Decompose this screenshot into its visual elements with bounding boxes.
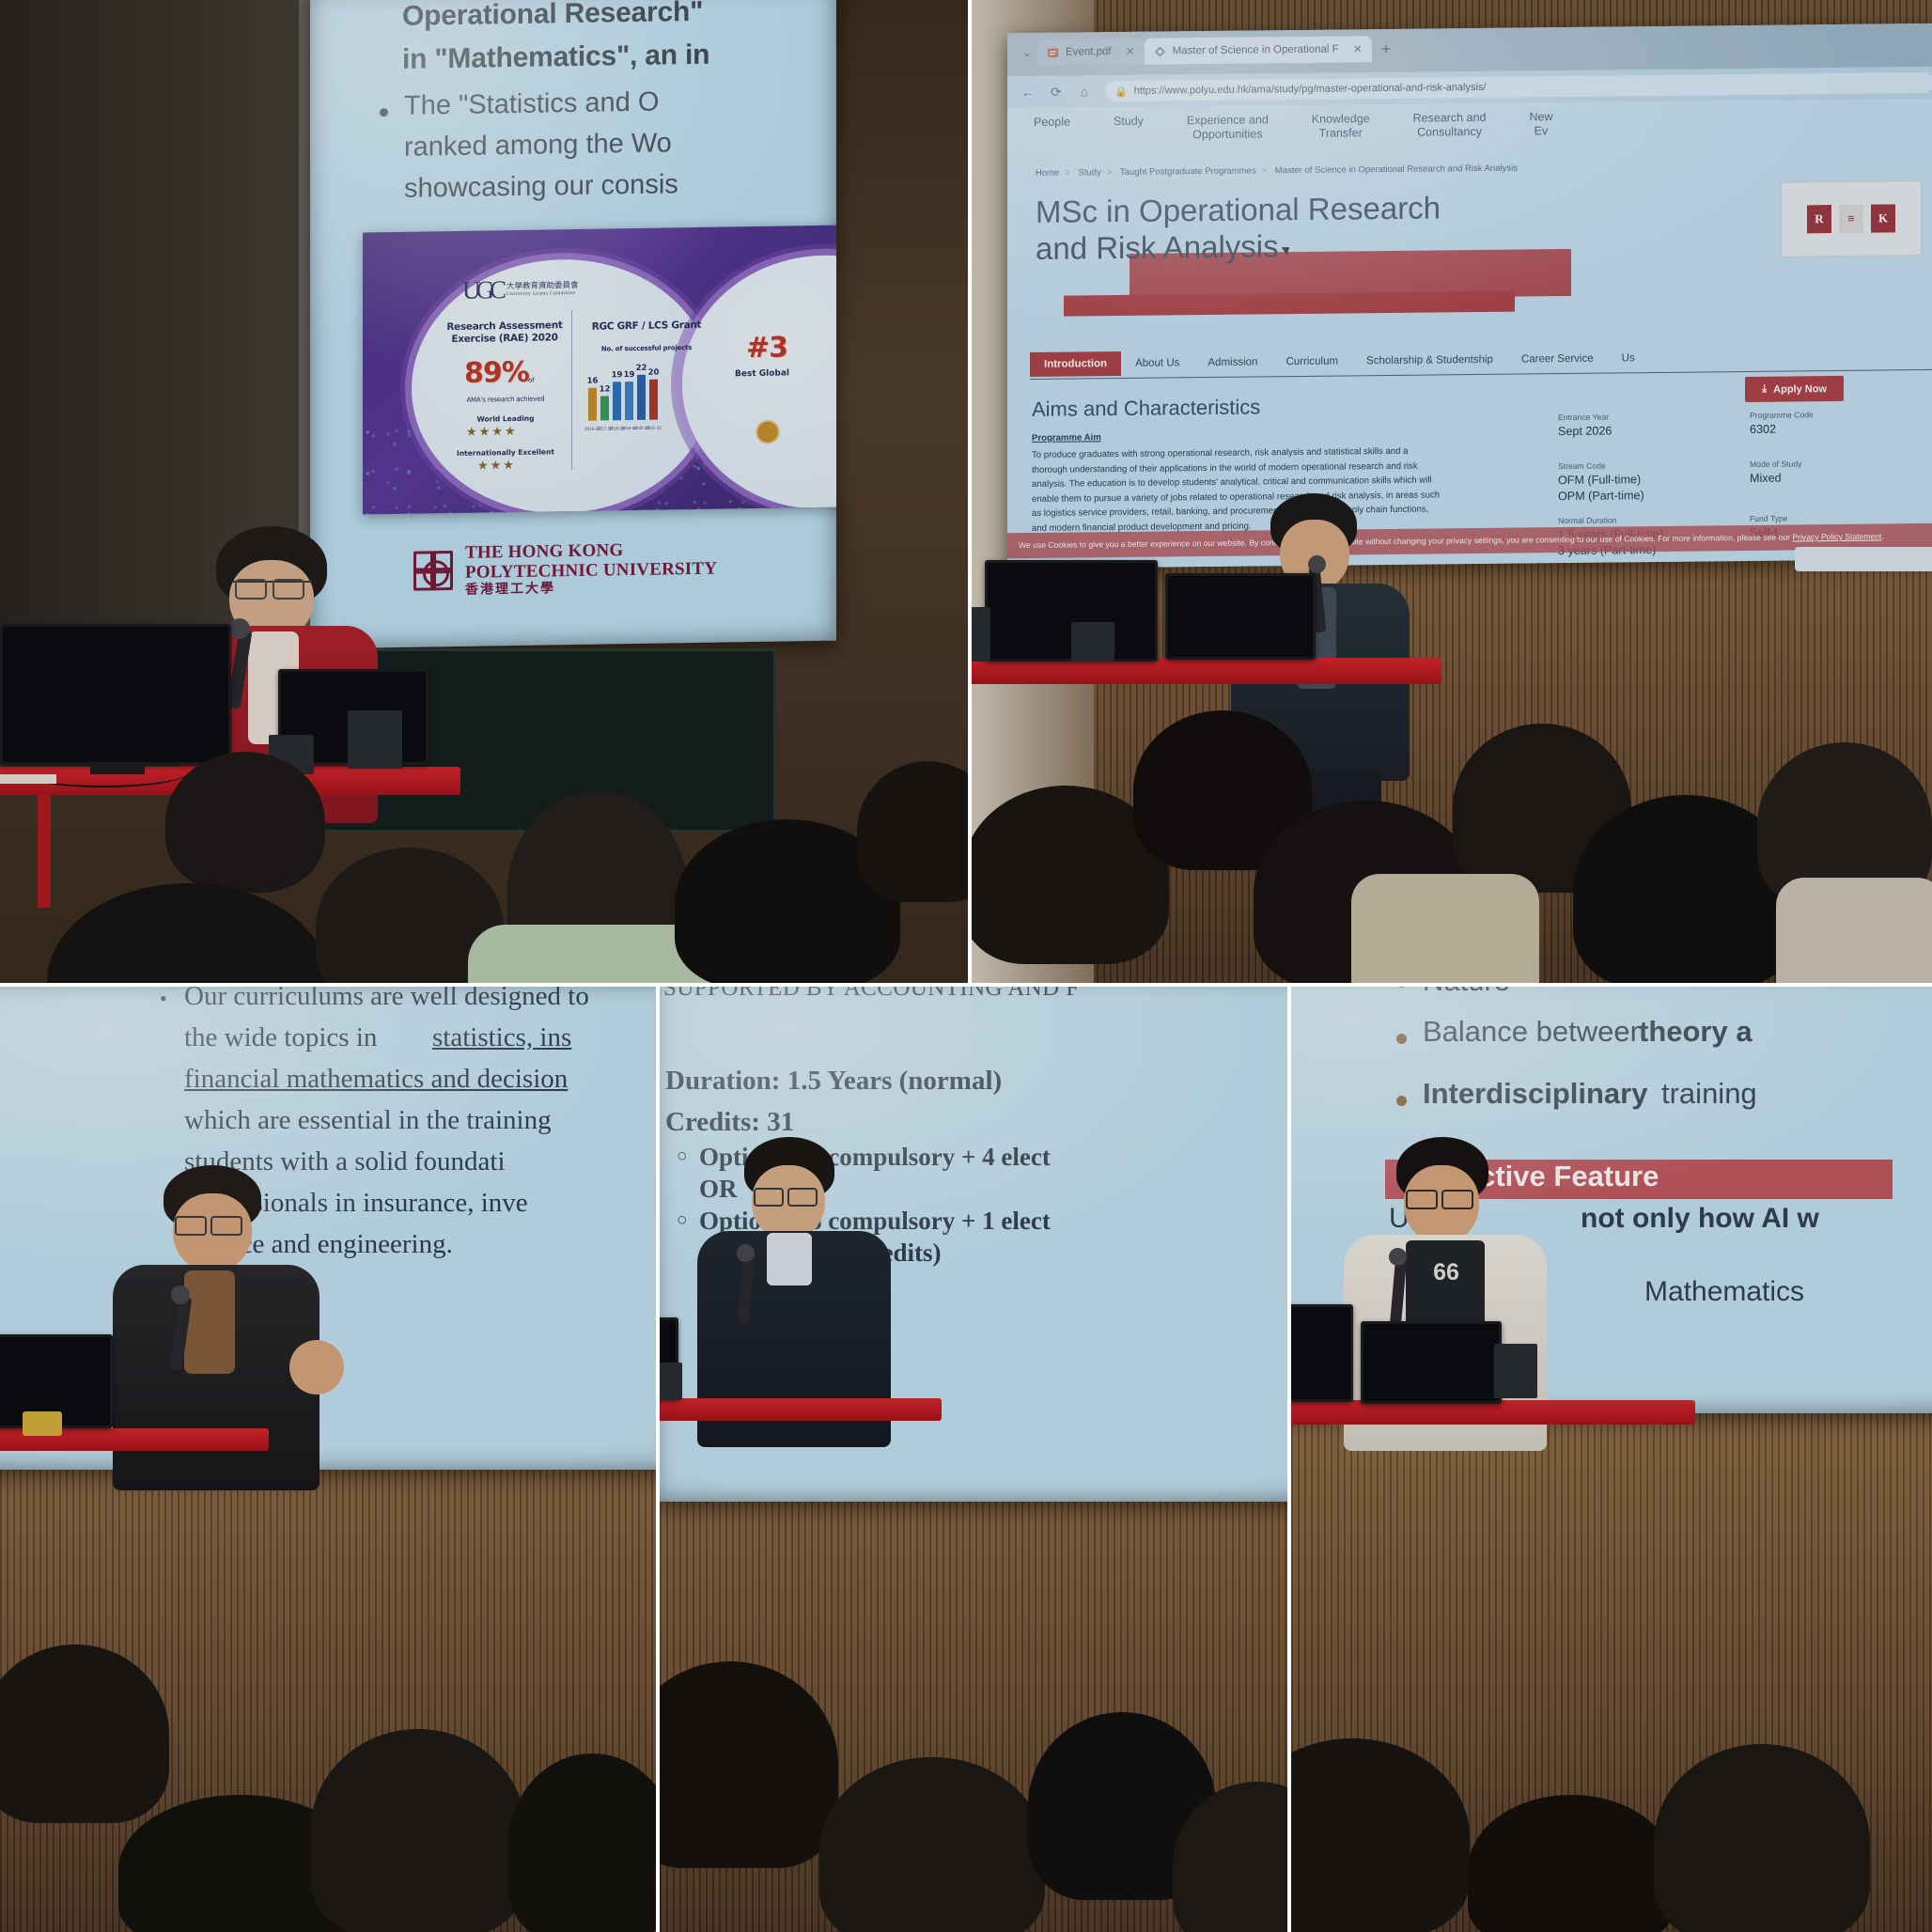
tab-admission[interactable]: Admission [1193,350,1271,375]
seam-horizontal [0,983,1932,987]
slide5-sub-b: not only how AI w [1581,1203,1819,1235]
audience-head-r [819,1757,1045,1932]
slide3-line4: which are essential in the training [184,1105,552,1136]
desk-speaker-6 [660,1363,682,1400]
meta-duration-label: Normal Duration [1558,515,1617,525]
seam-vertical-br [1287,987,1291,1932]
slide4-duration: Duration: 1.5 Years (normal) [665,1066,1002,1097]
new-tab-button[interactable]: + [1372,39,1401,58]
slide5-bullet1a: Balance between [1423,1015,1646,1049]
desk-accessory-1 [23,1411,62,1436]
slide5-bullet0: Nature [1423,987,1510,998]
slide3-line2b: statistics, ins [432,1022,571,1053]
browser-tab-1[interactable]: Event.pdf ✕ [1037,39,1145,66]
rae-percent-of: of [528,377,534,384]
desk-speaker-8 [1494,1344,1537,1398]
infographic-divider [571,310,572,470]
hero-logo-box: R ≡ K [1780,179,1923,258]
polyu-logo-text: THE HONG KONG POLYTECHNIC UNIVERSITY 香港理… [465,539,717,598]
apply-now-label: Apply Now [1773,383,1827,396]
rae-infographic-card: UGC 大學教育資助委員會 University Grants Committe… [363,225,836,514]
slide5-bullet0-dot [1396,987,1407,988]
slide1-bullet-line1: The "Statistics and O [404,87,659,122]
speaker-3-mic-head [171,1285,190,1304]
meta-stream-code-value: OFM (Full-time) OPM (Part-time) [1558,472,1644,505]
slide3-bullet: • [160,987,167,1011]
pdf-icon [1047,46,1059,58]
monitor-4 [1165,573,1316,660]
grf-bar-chart: 162016-17122017-18192018-19192019-202220… [588,371,658,421]
slide5-bullet2b: training [1661,1077,1757,1111]
slide1-bullet-line3: showcasing our consis [404,169,678,205]
programme-aim-label: Programme Aim [1032,432,1101,444]
audience-head-o [310,1729,526,1932]
speaker-3-inner-tee [184,1270,235,1374]
slide5-bullet2a: Interdisciplinary [1423,1077,1647,1111]
slide1-line1: Operational Research" [402,0,703,33]
tab-introduction[interactable]: Introduction [1030,351,1121,377]
polyu-logo: THE HONG KONG POLYTECHNIC UNIVERSITY 香港理… [412,539,717,599]
grf-bar: 162016-17 [588,388,597,421]
grf-bar: 192019-20 [625,382,633,420]
speaker-3-glasses-l [175,1216,207,1236]
photo-collage: Operational Research" in "Mathematics", … [0,0,1932,1932]
global-rank-label: Best Global [735,368,789,379]
meta-mode-of-study: Mode of Study Mixed [1750,459,1801,487]
apply-now-button[interactable]: ⤓ Apply Now [1745,376,1844,402]
chevron-down-icon[interactable]: ⌄ [1017,45,1037,60]
browser-tab-strip: ⌄ Event.pdf ✕ Master of [1017,29,1932,67]
desk-speaker-4 [1071,622,1114,662]
speaker-3-hand [289,1340,344,1394]
speaker-4-collar [767,1233,812,1285]
meta-programme-code-value: 6302 [1750,421,1814,438]
reload-icon[interactable]: ⟳ [1049,84,1064,100]
speaker-4-mic-head [737,1244,755,1262]
address-bar-url: https://www.polyu.edu.hk/ama/study/pg/ma… [1134,82,1487,97]
projection-screen-2: ⌄ Event.pdf ✕ Master of [1007,23,1932,569]
speaker-5-glasses-l [1406,1190,1438,1209]
grf-bar-value: 16 [587,377,599,386]
meta-entrance-year: Entrance Year Sept 2026 [1558,412,1612,440]
lectern-desk-2 [972,658,1441,684]
grf-bar-value: 12 [600,384,611,394]
slide1-bullet-line2: ranked among the Wo [404,128,672,163]
audience-head-v [1468,1795,1675,1932]
browser-tab-2-title: Master of Science in Operational F [1173,44,1339,57]
slide5-tail: Mathematics [1644,1276,1804,1308]
cookie-tail: . [1881,531,1883,540]
ugc-monogram: UGC [462,275,502,305]
meta-mode-label: Mode of Study [1750,459,1801,469]
logo-letter-k: K [1871,204,1895,232]
lectern-desk-4 [660,1398,942,1421]
close-icon[interactable]: ✕ [1353,42,1363,55]
meta-programme-code: Programme Code 6302 [1750,410,1814,438]
download-icon: ⤓ [1762,383,1767,396]
speaker-4 [660,1137,838,1532]
privacy-policy-link[interactable]: Privacy Policy Statement [1792,531,1881,541]
speaker-5-glasses-r [1441,1190,1473,1209]
tab-curriculum[interactable]: Curriculum [1271,349,1352,374]
audience-coat-beige [1351,874,1539,983]
slide3-line2a: the wide topics in [184,1022,377,1053]
meta-fund-label: Fund Type [1750,514,1787,523]
desk-speaker-1 [348,710,402,769]
slide4-credits: Credits: 31 [665,1107,794,1138]
grf-bar: 222020-21 [637,375,646,420]
meta-entrance-year-label: Entrance Year [1558,413,1609,423]
grf-bar: 202021-22 [649,379,658,419]
slide3-line1: Our curriculums are well designed to [184,987,589,1012]
desk-speaker-3 [972,607,990,662]
rae-stars-four: ★★★★ [466,424,518,440]
grf-bar-value: 19 [612,370,623,380]
slide1-bullet-dot [380,108,388,117]
panel-bottom-left: • Our curriculums are well designed to t… [0,987,656,1932]
slide5-bullet1b: theory a [1639,1015,1753,1049]
slide1-line2: in "Mathematics", an in [402,39,709,76]
lock-icon: 🔒 [1114,85,1128,97]
audience-coat-light [1776,878,1932,983]
speaker-3 [113,1165,376,1569]
grf-title: RGC GRF / LCS Grant [581,319,712,334]
meta-mode-value: Mixed [1750,470,1801,487]
logo-letter-list-icon: ≡ [1839,205,1863,233]
speaker-4-glasses-r [787,1188,818,1207]
polyu-name-line2: POLYTECHNIC UNIVERSITY [465,559,717,583]
grf-bar: 122017-18 [600,396,609,420]
slide3-line3: financial mathematics and decision [184,1064,568,1095]
paper-sheet [0,774,56,784]
rae-stars-three: ★★★ [477,458,516,474]
browser-tab-1-title: Event.pdf [1066,46,1112,58]
address-bar[interactable]: 🔒 https://www.polyu.edu.hk/ama/study/pg/… [1105,72,1932,101]
tab-scholarship[interactable]: Scholarship & Studentship [1352,348,1507,374]
cookie-text-2: consenting to our use of Cookies. For mo… [1535,532,1792,544]
speaker-3-glasses-r [210,1216,242,1236]
panel-bottom-right: Nature Balance between theory a Interdis… [1291,987,1932,1932]
slide4-header: SUPPORTED BY ACCOUNTING AND F [663,987,1080,1002]
taskbar-strip [1795,547,1932,571]
grf-bar-value: 19 [624,370,635,380]
ugc-logo: UGC 大學教育資助委員會 University Grants Committe… [462,274,579,305]
monitor-8 [1361,1321,1502,1404]
desk-leg-1 [38,795,51,908]
grf-bar: 192018-19 [613,382,621,420]
speaker-1-glasses-l [235,579,267,600]
speaker-5-bib [1406,1240,1485,1334]
page-title: MSc in Operational Research and Risk Ana… [1036,190,1441,267]
speaker-4-glasses-l [754,1188,784,1207]
meta-programme-code-label: Programme Code [1750,410,1814,420]
rae-percentage: 89% [464,356,529,390]
grf-bar-category: 2021-22 [646,426,662,430]
seam-vertical-bl [656,987,660,1932]
slide5-bullet2-dot [1396,1096,1407,1106]
logo-letter-r: R [1807,205,1831,233]
browser-window: ⌄ Event.pdf ✕ Master of [1007,23,1932,569]
speaker-1-mic-head [229,618,250,639]
grf-bar-value: 20 [648,367,660,377]
audience-head-a [165,752,325,893]
monitor-7 [1291,1304,1353,1402]
panel-top-left: Operational Research" in "Mathematics", … [0,0,968,983]
rae-title: Research Assessment Exercise (RAE) 2020 [444,319,566,346]
meta-entrance-year-value: Sept 2026 [1558,423,1612,440]
browser-tab-2[interactable]: Master of Science in Operational F ✕ [1145,36,1372,65]
monitor-1 [0,624,231,765]
back-arrow-icon[interactable]: ← [1021,85,1036,100]
speaker-1-glasses-r [273,579,304,600]
panel-top-right: ⌄ Event.pdf ✕ Master of [972,0,1932,983]
section-heading: Aims and Characteristics [1032,395,1260,422]
meta-stream-code: Stream Code OFM (Full-time) OPM (Part-ti… [1558,460,1644,505]
speaker-5-mic-head [1389,1248,1407,1266]
audience-head-w [1654,1744,1870,1932]
meta-stream-code-label: Stream Code [1558,461,1606,472]
hero-red-block-bottom [1064,291,1515,317]
tab-career-service[interactable]: Career Service [1507,347,1608,372]
ugc-name-en: University Grants Committee [506,290,579,297]
seam-vertical-top [968,0,972,983]
speaker-2-mic-head [1308,555,1326,573]
home-icon[interactable]: ⌂ [1077,84,1092,99]
slide5-bullet1-dot [1396,1034,1407,1044]
polyu-name-cn: 香港理工大學 [465,579,717,598]
close-icon[interactable]: ✕ [1126,45,1135,58]
panel-bottom-middle: SUPPORTED BY ACCOUNTING AND F Duration: … [660,987,1287,1932]
tab-us[interactable]: Us [1608,346,1649,370]
website-viewport: People Study Experience and Opportunitie… [1007,99,1932,569]
speaker-5-bib-number: 66 [1413,1259,1479,1286]
grf-bar-value: 22 [636,364,647,373]
global-rank-number: #3 [746,331,787,365]
polyu-icon [1154,45,1166,57]
tab-about-us[interactable]: About Us [1121,351,1193,376]
